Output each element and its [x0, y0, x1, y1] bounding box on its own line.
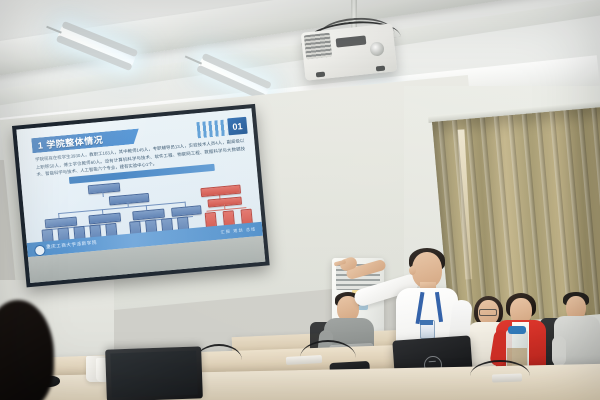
laptop-foreground-screen[interactable] — [110, 351, 197, 398]
projector-vent — [304, 33, 332, 60]
projection-screen[interactable]: 1 学院整体情况 01 学院现有在校学生3930人，教职工163人，其中教师14… — [12, 104, 270, 287]
org-node-second — [109, 193, 150, 206]
projector-foot-left — [316, 72, 325, 78]
id-badge-header — [420, 320, 433, 325]
slide-footer-logo-text: 重庆工商大学派斯学院 — [46, 240, 97, 251]
screenshot-scene: 1 学院整体情况 01 学院现有在校学生3930人，教职工163人，其中教师14… — [0, 0, 600, 400]
power-strip-2 — [492, 373, 522, 382]
presentation-slide: 1 学院整体情况 01 学院现有在校学生3930人，教职工163人，其中教师14… — [16, 108, 263, 257]
projector-foot-right — [376, 66, 385, 72]
glasses-icon — [479, 309, 497, 316]
tea-bottle-cap — [508, 326, 526, 334]
org-node-top — [88, 182, 121, 194]
org-node-red-1 — [200, 185, 241, 198]
slide-decor-bars — [196, 120, 227, 139]
slide-section-badge: 01 — [227, 117, 247, 136]
presenter-ear — [409, 266, 416, 275]
right-person-arm — [552, 336, 566, 366]
university-logo-icon — [34, 244, 46, 256]
org-node-mid-4 — [171, 205, 202, 217]
slide-footer-right-text: 汇报 规划 总结 — [220, 226, 256, 235]
